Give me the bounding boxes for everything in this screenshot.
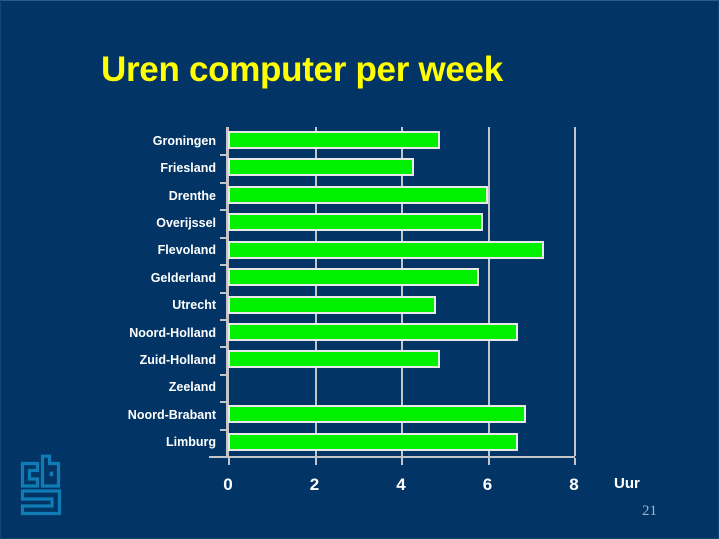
bar-groningen xyxy=(228,131,440,149)
x-gridline xyxy=(574,127,576,456)
y-axis-category-label: Flevoland xyxy=(4,243,216,257)
bar-friesland xyxy=(228,158,414,176)
x-axis-tick-label: 4 xyxy=(381,475,421,495)
y-axis-category-label: Limburg xyxy=(4,435,216,449)
y-axis-tick xyxy=(220,401,227,403)
y-axis-category-label: Utrecht xyxy=(4,298,216,312)
bar-row xyxy=(228,292,574,319)
bar-row xyxy=(228,401,574,428)
bar-row xyxy=(228,346,574,373)
bar-zuid-holland xyxy=(228,350,440,368)
y-axis-category-label: Groningen xyxy=(4,134,216,148)
x-axis-tick xyxy=(488,458,490,465)
x-axis-tick-label: 8 xyxy=(554,475,594,495)
x-axis-tick-labels: 02468 xyxy=(1,475,719,499)
cbs-logo-glyph xyxy=(16,454,66,516)
y-axis-tick xyxy=(220,292,227,294)
x-axis-tick-label: 2 xyxy=(295,475,335,495)
page-number: 21 xyxy=(642,503,657,520)
slide: Uren computer per week GroningenFrieslan… xyxy=(0,0,719,539)
bar-gelderland xyxy=(228,268,479,286)
bar-limburg xyxy=(228,433,518,451)
bar-row xyxy=(228,237,574,264)
x-axis-tick xyxy=(315,458,317,465)
x-axis-line xyxy=(209,456,575,458)
bar-noord-holland xyxy=(228,323,518,341)
y-axis-tick xyxy=(220,456,227,458)
y-axis-tick xyxy=(220,182,227,184)
bar-row xyxy=(228,429,574,456)
y-axis-category-labels: GroningenFrieslandDrentheOverijsselFlevo… xyxy=(1,127,216,456)
bar-chart: GroningenFrieslandDrentheOverijsselFlevo… xyxy=(1,1,719,539)
bar-row xyxy=(228,374,574,401)
x-axis-tick-label: 0 xyxy=(208,475,248,495)
y-axis-tick xyxy=(220,209,227,211)
bar-row xyxy=(228,209,574,236)
y-axis-tick xyxy=(220,264,227,266)
bar-row xyxy=(228,264,574,291)
y-axis-category-label: Zuid-Holland xyxy=(4,353,216,367)
bar-row xyxy=(228,154,574,181)
cbs-logo xyxy=(16,454,66,516)
y-axis-category-label: Drenthe xyxy=(4,189,216,203)
y-axis-tick xyxy=(220,154,227,156)
y-axis-tick xyxy=(220,429,227,431)
x-axis-tick xyxy=(574,458,576,465)
y-axis-tick xyxy=(220,374,227,376)
x-axis-tick xyxy=(228,458,230,465)
y-axis-tick xyxy=(220,237,227,239)
y-axis-category-label: Overijssel xyxy=(4,216,216,230)
y-axis-category-label: Zeeland xyxy=(4,380,216,394)
bar-overijssel xyxy=(228,213,483,231)
y-axis-tick xyxy=(220,346,227,348)
bar-flevoland xyxy=(228,241,544,259)
bar-row xyxy=(228,319,574,346)
y-axis-category-label: Friesland xyxy=(4,161,216,175)
y-axis-category-label: Gelderland xyxy=(4,271,216,285)
x-axis-tick-label: 6 xyxy=(468,475,508,495)
y-axis-category-label: Noord-Brabant xyxy=(4,408,216,422)
bar-noord-brabant xyxy=(228,405,526,423)
bar-row xyxy=(228,127,574,154)
bar-utrecht xyxy=(228,296,436,314)
y-axis-tick xyxy=(220,319,227,321)
x-axis-unit-label: Uur xyxy=(614,475,640,492)
bar-drenthe xyxy=(228,186,488,204)
x-axis-tick xyxy=(401,458,403,465)
y-axis-category-label: Noord-Holland xyxy=(4,326,216,340)
plot-area xyxy=(228,127,574,456)
bar-row xyxy=(228,182,574,209)
